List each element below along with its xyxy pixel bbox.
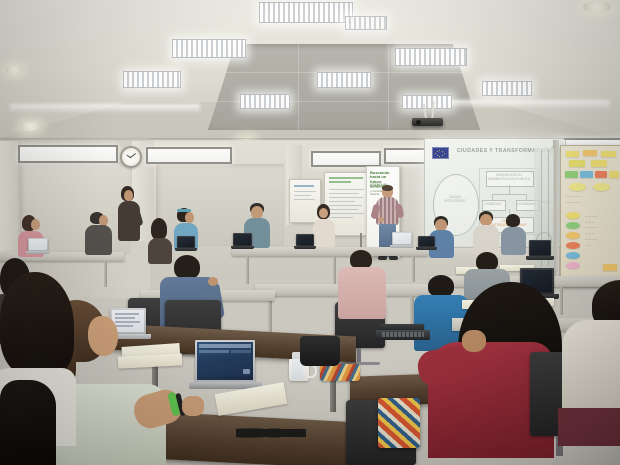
wall-pillar	[0, 141, 18, 261]
sticky-note	[603, 264, 617, 271]
table-leg	[268, 296, 272, 332]
patterned-pouch	[320, 364, 360, 381]
participant-head	[124, 190, 133, 201]
slide-bracket	[479, 168, 539, 169]
eu-flag-icon	[432, 147, 449, 159]
ceiling-panel-light	[259, 2, 353, 23]
sticky-note	[569, 183, 586, 191]
ceiling-panel-light	[345, 16, 387, 30]
cove-light	[10, 104, 200, 113]
presenter-hand	[378, 217, 384, 222]
sticky-note	[566, 252, 580, 259]
ceiling-panel-light	[395, 48, 467, 66]
sticky-note	[566, 262, 580, 269]
participant-top	[562, 320, 620, 420]
participant-hair	[428, 275, 454, 297]
presenter-hair	[382, 185, 393, 191]
patterned-bag	[378, 398, 420, 448]
participant-head	[185, 212, 194, 223]
table-leg	[560, 287, 563, 315]
slide-oval-text: CIUDADINTELIGENTE	[439, 196, 471, 203]
sticky-note	[569, 160, 585, 167]
participant-hair	[151, 218, 167, 240]
participant-top	[473, 225, 499, 255]
classroom-photo: CIUDADES Y TRANSFORMACION CIUDADINTELIGE…	[0, 0, 620, 465]
ceiling-downlight	[583, 1, 611, 13]
mug-handle	[307, 364, 317, 378]
sticky-note	[580, 171, 593, 178]
sticky-note-wall: — — — — — — — — — — — — — —— — —— — — ——…	[560, 145, 620, 287]
ceiling-panel-light	[482, 81, 532, 96]
clerestory-window	[146, 147, 232, 164]
flipchart-left	[289, 179, 321, 223]
sticky-note	[566, 232, 580, 239]
wall-clock	[120, 146, 142, 168]
participant-top	[338, 267, 386, 319]
ceiling-downlight	[6, 66, 23, 74]
participant-hand	[182, 396, 204, 416]
sticky-note	[566, 242, 580, 249]
clerestory-window	[18, 145, 118, 163]
participant-hair	[0, 272, 74, 376]
participant-head	[88, 316, 118, 356]
ceiling-panel-light	[317, 72, 371, 88]
sticky-note	[583, 150, 597, 156]
ceiling-downlight	[20, 122, 41, 131]
sticky-note	[609, 171, 619, 178]
sticky-note	[601, 151, 616, 157]
sticky-note	[565, 171, 578, 178]
backpack	[300, 336, 340, 366]
slide-box-text: INNOVACION ENADMINISTRACION PUBLICA	[487, 174, 531, 181]
clock-minute-hand	[130, 153, 136, 158]
participant-top	[148, 238, 172, 264]
ceiling-panel-light	[172, 39, 246, 58]
projector-lens	[416, 120, 421, 125]
participant-top	[85, 225, 112, 255]
participant-hand	[462, 330, 486, 352]
participant-pants	[558, 408, 620, 446]
table-leg	[412, 256, 415, 282]
ceiling-panel-light	[123, 71, 181, 88]
ceiling-panel-light	[402, 95, 452, 109]
sticky-note-caption: — — — —— — —— — — —— — —— — — —— —	[585, 214, 619, 248]
clerestory-window	[311, 151, 381, 167]
participant-top	[313, 219, 335, 247]
sticky-note-caption: — — — — —	[565, 195, 619, 198]
sticky-note	[566, 222, 580, 229]
table-leg	[333, 256, 336, 284]
table-back-center	[232, 247, 428, 256]
participant-hair	[506, 214, 520, 227]
participant-head	[31, 219, 40, 230]
participant-hair	[174, 255, 200, 279]
slide-connector	[492, 194, 527, 195]
foreground-figure-edge	[0, 380, 56, 465]
presenter-shoe	[389, 256, 398, 260]
slide-connector	[509, 185, 510, 194]
presenter-shoe	[378, 256, 387, 260]
participant-head	[319, 208, 328, 218]
ceiling	[0, 0, 620, 152]
ceiling-panel-light	[240, 94, 290, 109]
slide-box-text: GOBIERNO	[482, 203, 504, 207]
sticky-note-caption: — — — — —	[565, 201, 619, 204]
sticky-note	[566, 212, 580, 219]
notebook-front	[118, 353, 183, 368]
table-leg	[104, 261, 107, 287]
sticky-note	[595, 171, 607, 178]
sticky-note	[591, 160, 607, 167]
tabletop-discs	[236, 424, 306, 442]
table-leg	[246, 256, 249, 284]
participant-hand	[208, 277, 218, 286]
participant-top	[501, 227, 526, 255]
sticky-note	[593, 183, 610, 191]
sticky-note	[566, 151, 579, 157]
cove-light	[430, 100, 610, 109]
